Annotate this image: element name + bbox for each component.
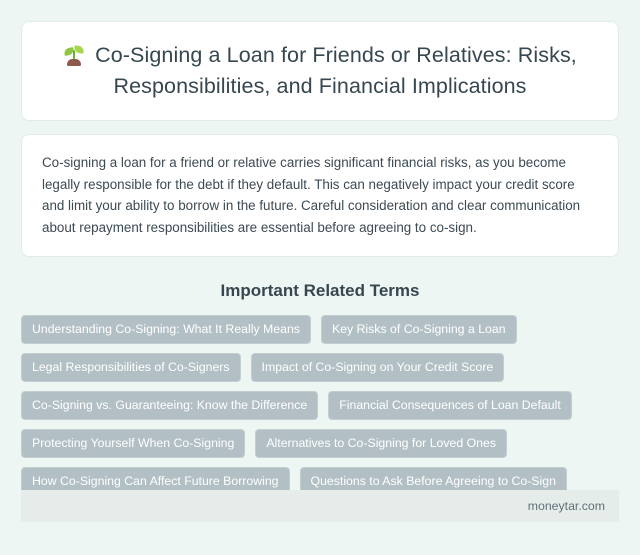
related-term-tag[interactable]: Legal Responsibilities of Co-Signers: [21, 353, 241, 382]
related-terms-tag-list: Understanding Co-Signing: What It Really…: [21, 315, 619, 496]
related-term-tag[interactable]: Understanding Co-Signing: What It Really…: [21, 315, 311, 344]
page-root: Co-Signing a Loan for Friends or Relativ…: [0, 0, 640, 555]
related-term-tag[interactable]: Financial Consequences of Loan Default: [328, 391, 572, 420]
seedling-icon: [63, 44, 85, 66]
summary-card: Co-signing a loan for a friend or relati…: [21, 134, 619, 257]
footer-bar: moneytar.com: [21, 490, 619, 522]
related-term-tag[interactable]: Co-Signing vs. Guaranteeing: Know the Di…: [21, 391, 318, 420]
related-term-tag[interactable]: Impact of Co-Signing on Your Credit Scor…: [251, 353, 505, 382]
site-name: moneytar.com: [528, 499, 605, 513]
related-term-tag[interactable]: Protecting Yourself When Co-Signing: [21, 429, 245, 458]
title-card: Co-Signing a Loan for Friends or Relativ…: [21, 21, 619, 121]
related-term-tag[interactable]: Alternatives to Co-Signing for Loved One…: [255, 429, 507, 458]
related-term-tag[interactable]: Key Risks of Co-Signing a Loan: [321, 315, 517, 344]
seedling-leaf-right: [74, 45, 85, 54]
summary-text: Co-signing a loan for a friend or relati…: [42, 152, 598, 238]
related-terms-heading: Important Related Terms: [21, 281, 619, 301]
page-title: Co-Signing a Loan for Friends or Relativ…: [46, 40, 594, 102]
seedling-soil: [67, 59, 81, 66]
page-title-text: Co-Signing a Loan for Friends or Relativ…: [95, 43, 577, 98]
